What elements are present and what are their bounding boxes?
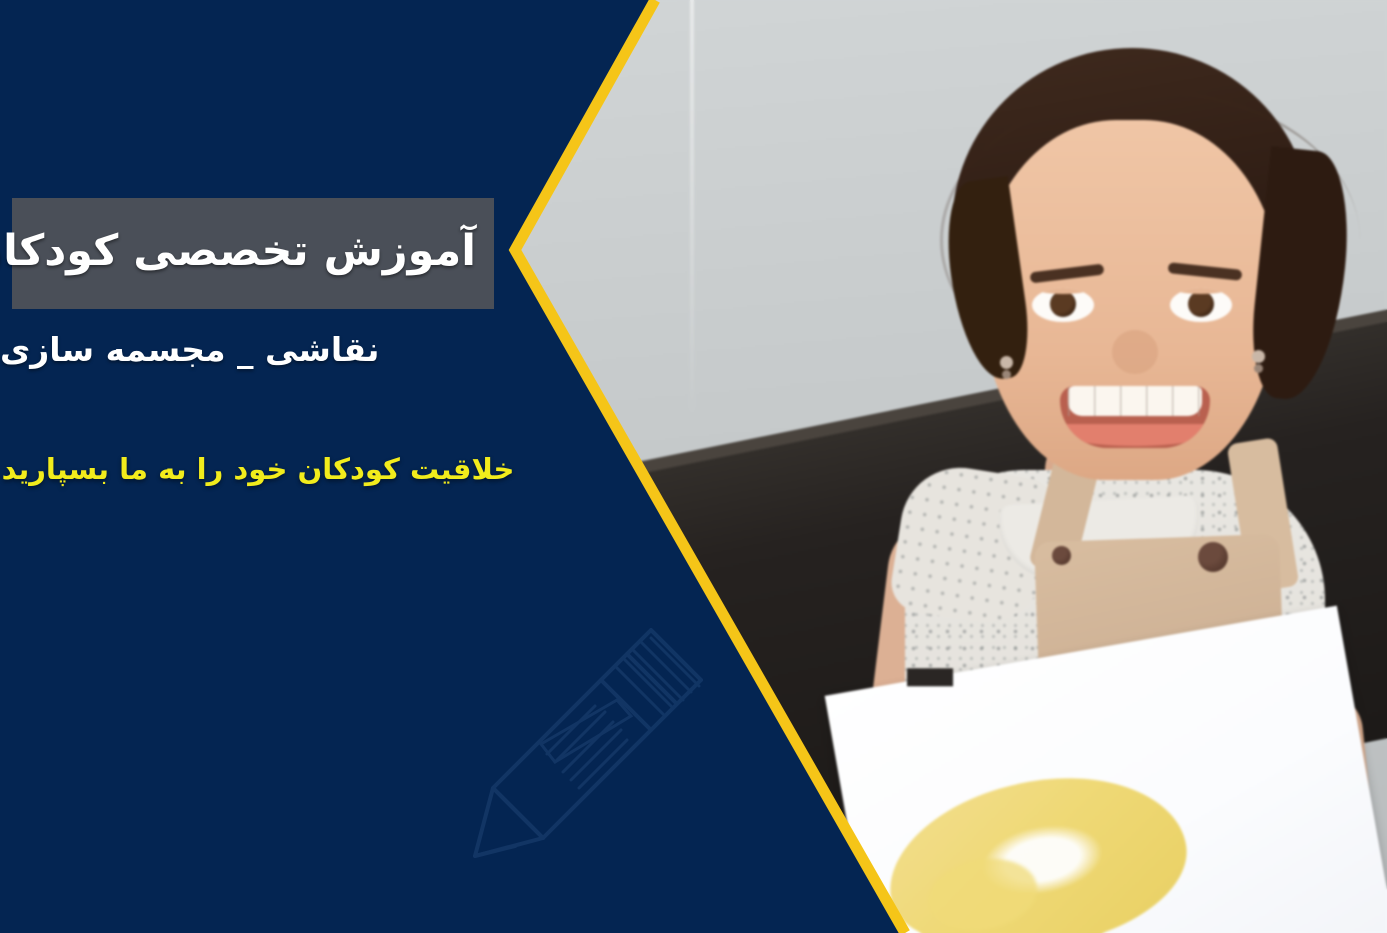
girl-lower-lip [1066, 424, 1204, 446]
girl-eye-left [1032, 288, 1094, 322]
girl-smile [1060, 386, 1210, 448]
title-box: آموزش تخصصی کودکان [12, 198, 494, 309]
girl-nose [1112, 330, 1158, 374]
subtitle: نقاشی _ مجسمه سازی [0, 330, 512, 369]
girl-pupil-left [1050, 291, 1076, 317]
overall-button-left [1052, 546, 1071, 565]
girl-eye-right [1170, 288, 1232, 322]
tagline: خلاقیت کودکان خود را به ما بسپارید [0, 452, 516, 486]
page-title: آموزش تخصصی کودکان [12, 198, 494, 309]
yellow-crayon-scribble [875, 757, 1199, 933]
girl-eyelid-left [1032, 288, 1094, 294]
promo-banner: آموزش تخصصی کودکان نقاشی _ مجسمه سازی خل… [0, 0, 1387, 933]
girl-eyelid-right [1170, 288, 1232, 294]
paper-notch [907, 668, 953, 686]
pencil-icon [455, 612, 717, 872]
earring-left [1000, 356, 1013, 369]
overall-button-right [1198, 542, 1228, 572]
girl-pupil-right [1188, 291, 1214, 317]
girl-teeth [1068, 386, 1202, 416]
earring-right [1252, 350, 1265, 363]
